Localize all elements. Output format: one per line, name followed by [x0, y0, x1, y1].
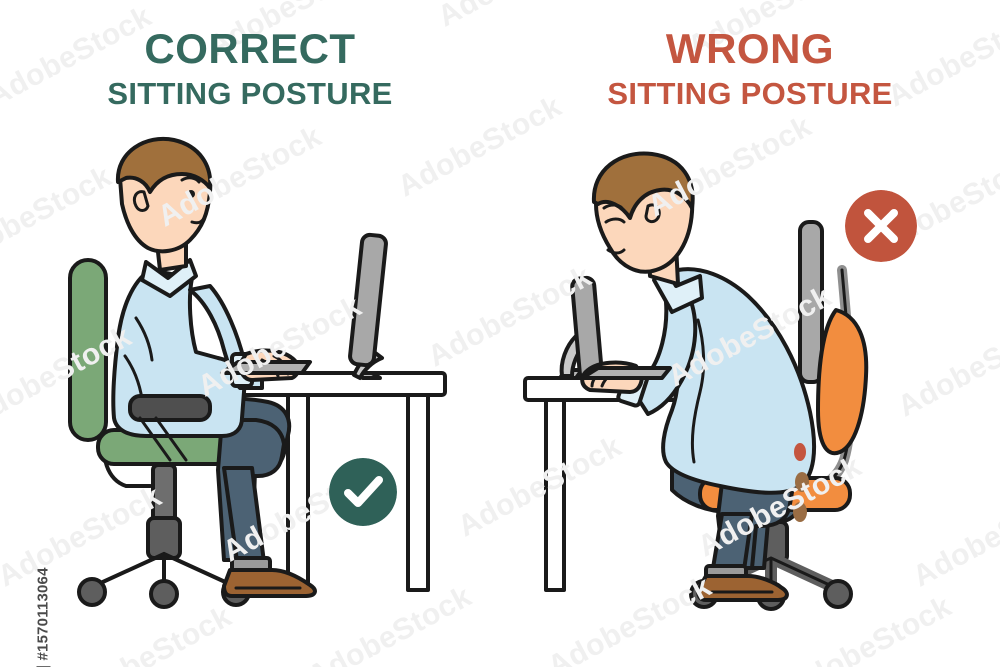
pain-dot: [794, 443, 806, 461]
pain-dot: [795, 472, 809, 492]
illustration-canvas: AdobeStock AdobeStock AdobeStock AdobeSt…: [0, 0, 1000, 667]
watermark-credit-text: Adobe Stock | #1570113064: [35, 538, 52, 667]
chair-backrest-right: [818, 310, 866, 453]
title-main-wrong: WRONG: [540, 28, 960, 71]
title-sub-correct: SITTING POSTURE: [40, 75, 460, 114]
monitor-post-right: [800, 222, 822, 382]
pain-dot: [793, 502, 807, 522]
panel-title-correct: CORRECT SITTING POSTURE: [40, 28, 460, 114]
chair-backrest-left: [70, 260, 106, 440]
monitor-left: [349, 234, 386, 378]
title-sub-wrong: SITTING POSTURE: [540, 75, 960, 114]
eye-left: [187, 190, 195, 198]
title-main-correct: CORRECT: [40, 28, 460, 71]
cross-badge: [845, 190, 917, 262]
panel-title-wrong: WRONG SITTING POSTURE: [540, 28, 960, 114]
keyboard-left: [222, 362, 310, 373]
check-badge: [329, 458, 397, 526]
scene-correct: [70, 139, 445, 607]
scene-wrong: [525, 153, 866, 609]
lumbar-cushion: [130, 396, 210, 420]
keyboard-right: [582, 368, 670, 378]
titles-row: CORRECT SITTING POSTURE WRONG SITTING PO…: [0, 0, 1000, 135]
